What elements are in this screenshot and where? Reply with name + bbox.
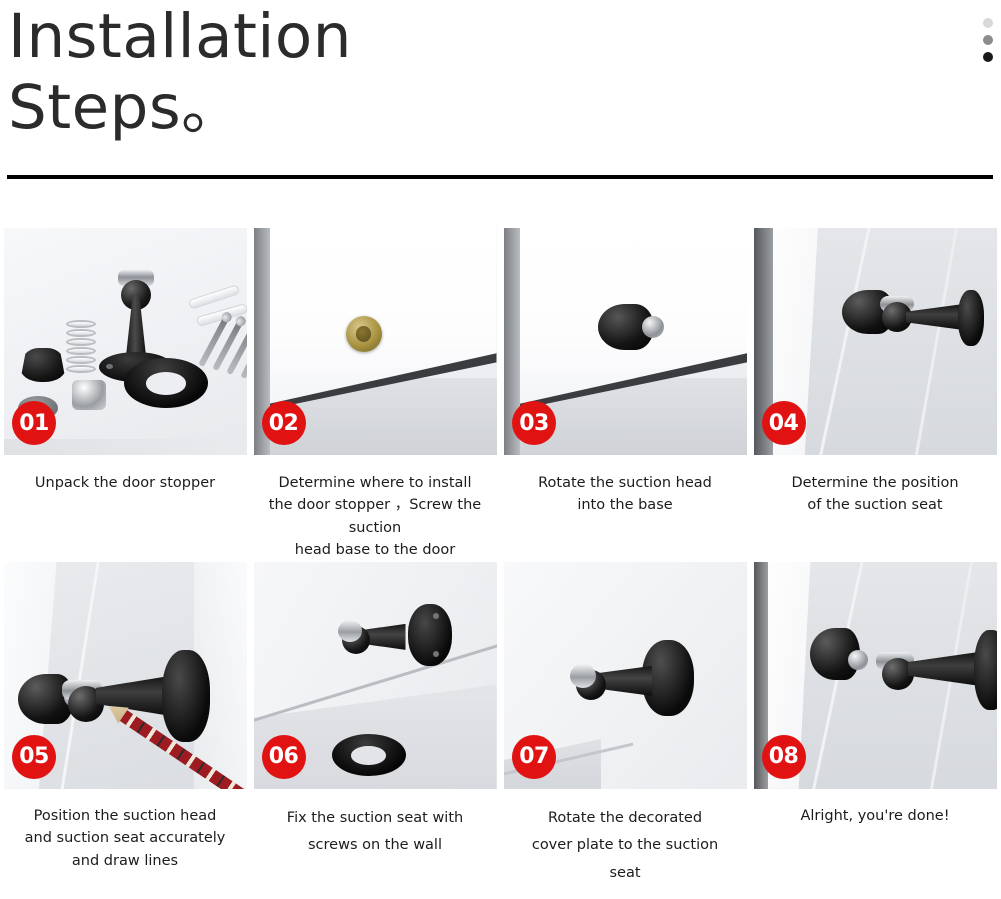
- step-badge-08: 08: [762, 735, 806, 779]
- step-image-04: 04: [754, 228, 997, 455]
- pagination-dots: [983, 18, 993, 62]
- step-card-02: 02 Determine where to install the door s…: [250, 228, 500, 562]
- step-card-01: 01 Unpack the door stopper: [0, 228, 250, 562]
- header-divider: [7, 175, 993, 179]
- step-caption-03: Rotate the suction head into the base: [500, 472, 750, 517]
- rubber-cone-part: [20, 348, 66, 382]
- pagination-dot-2[interactable]: [983, 35, 993, 45]
- page-title: InstallationSteps。: [8, 0, 1001, 144]
- step-card-07: 07 Rotate the decorated cover plate to t…: [500, 562, 750, 888]
- step-card-03: 03 Rotate the suction head into the base: [500, 228, 750, 562]
- page-title-line-2: Steps。: [8, 73, 1001, 144]
- step-caption-02: Determine where to install the door stop…: [250, 472, 500, 562]
- step-card-05: 05 Position the suction head and suction…: [0, 562, 250, 888]
- step-image-01: 01: [4, 228, 247, 455]
- pagination-dot-1[interactable]: [983, 18, 993, 28]
- step-badge-02: 02: [262, 401, 306, 445]
- step-image-02: 02: [254, 228, 497, 455]
- step-caption-08: Alright, you're done!: [750, 805, 1000, 827]
- page-title-line-1: Installation: [8, 1, 352, 72]
- step-badge-04: 04: [762, 401, 806, 445]
- step-badge-03: 03: [512, 401, 556, 445]
- cover-ring-part: [332, 734, 406, 776]
- step-caption-06: Fix the suction seat with screws on the …: [250, 805, 500, 860]
- chrome-nut-part: [72, 380, 106, 410]
- steps-grid: 01 Unpack the door stopper 02 Determine …: [0, 228, 1001, 888]
- step-card-06: 06 Fix the suction seat with screws on t…: [250, 562, 500, 888]
- step-caption-05: Position the suction head and suction se…: [0, 805, 250, 872]
- step-image-08: 08: [754, 562, 997, 789]
- suction-seat-assembly: [878, 640, 997, 710]
- suction-seat-mounted: [576, 640, 694, 714]
- cover-ring-part: [124, 358, 208, 408]
- suction-seat-mounted: [342, 604, 452, 674]
- step-image-05: 05: [4, 562, 247, 789]
- suction-head: [810, 628, 860, 680]
- step-image-07: 07: [504, 562, 747, 789]
- step-caption-01: Unpack the door stopper: [0, 472, 250, 494]
- suction-head-base: [346, 316, 382, 352]
- step-badge-05: 05: [12, 735, 56, 779]
- spring-part: [66, 320, 96, 378]
- step-card-08: 08 Alright, you're done!: [750, 562, 1000, 888]
- suction-seat-assembly: [882, 286, 986, 350]
- step-image-06: 06: [254, 562, 497, 789]
- step-badge-07: 07: [512, 735, 556, 779]
- step-badge-06: 06: [262, 735, 306, 779]
- pagination-dot-3[interactable]: [983, 52, 993, 62]
- page-header: InstallationSteps。: [0, 0, 1001, 144]
- step-image-03: 03: [504, 228, 747, 455]
- step-badge-01: 01: [12, 401, 56, 445]
- suction-head: [598, 304, 654, 350]
- step-caption-07: Rotate the decorated cover plate to the …: [500, 805, 750, 888]
- step-card-04: 04 Determine the position of the suction…: [750, 228, 1000, 562]
- step-caption-04: Determine the position of the suction se…: [750, 472, 1000, 517]
